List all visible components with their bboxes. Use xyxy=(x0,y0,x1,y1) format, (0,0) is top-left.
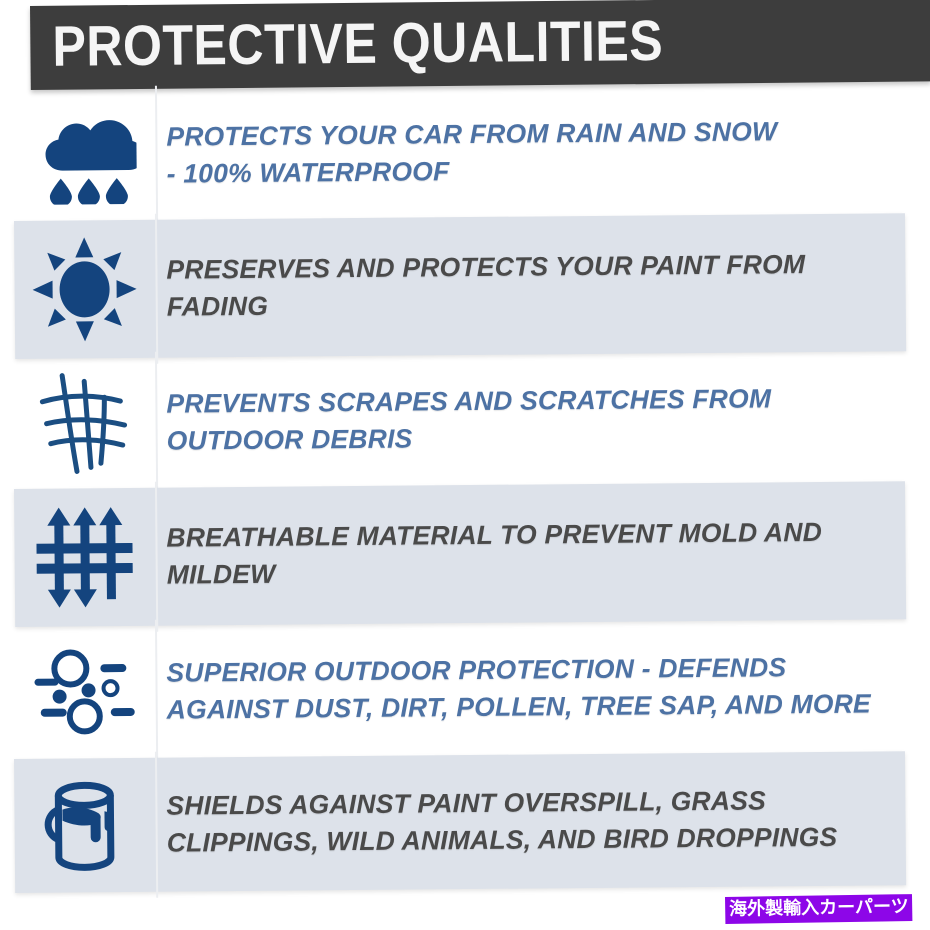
feature-text-sun: PRESERVES AND PROTECTS YOUR PAINT FROM F… xyxy=(166,213,905,357)
scratches-icon xyxy=(14,358,155,489)
feature-line: MILDEW xyxy=(167,551,823,594)
feature-row-sun: PRESERVES AND PROTECTS YOUR PAINT FROM F… xyxy=(0,221,930,359)
rain-cloud-icon xyxy=(14,92,155,221)
dust-particles-icon xyxy=(14,626,155,759)
column-divider xyxy=(155,620,158,764)
feature-text-breathable: BREATHABLE MATERIAL TO PREVENT MOLD AND … xyxy=(166,481,905,625)
breathable-arrows-icon xyxy=(14,488,155,627)
feature-line: OUTDOOR DEBRIS xyxy=(167,417,772,459)
feature-list: PROTECTS YOUR CAR FROM RAIN AND SNOW - 1… xyxy=(0,93,930,893)
feature-row-dust: SUPERIOR OUTDOOR PROTECTION - DEFENDS AG… xyxy=(0,627,930,759)
feature-row-breathable: BREATHABLE MATERIAL TO PREVENT MOLD AND … xyxy=(0,489,930,627)
feature-line: FADING xyxy=(167,283,806,326)
column-divider xyxy=(155,352,158,494)
feature-line: PREVENTS SCRAPES AND SCRATCHES FROM xyxy=(166,380,771,422)
feature-row-scratches: PREVENTS SCRAPES AND SCRATCHES FROM OUTD… xyxy=(0,359,930,489)
feature-text-paint: SHIELDS AGAINST PAINT OVERSPILL, GRASS C… xyxy=(166,751,905,891)
header: PROTECTIVE QUALITIES xyxy=(30,0,930,94)
feature-line: CLIPPINGS, WILD ANIMALS, AND BIRD DROPPI… xyxy=(167,819,838,862)
column-divider xyxy=(155,752,158,898)
page-title: PROTECTIVE QUALITIES xyxy=(52,8,663,80)
feature-line: BREATHABLE MATERIAL TO PREVENT MOLD AND xyxy=(166,514,822,557)
feature-line: SUPERIOR OUTDOOR PROTECTION - DEFENDS xyxy=(166,649,870,692)
feature-line: PRESERVES AND PROTECTS YOUR PAINT FROM xyxy=(166,246,805,289)
feature-line: PROTECTS YOUR CAR FROM RAIN AND SNOW xyxy=(166,113,777,155)
feature-text-rain: PROTECTS YOUR CAR FROM RAIN AND SNOW - 1… xyxy=(166,85,905,219)
watermark-badge: 海外製輸入カーパーツ xyxy=(725,894,913,924)
column-divider xyxy=(155,482,158,632)
feature-line: - 100% WATERPROOF xyxy=(167,150,778,192)
paint-bucket-icon xyxy=(14,758,155,893)
feature-line: SHIELDS AGAINST PAINT OVERSPILL, GRASS xyxy=(166,782,837,825)
column-divider xyxy=(155,214,158,364)
protective-qualities-infographic: PROTECTIVE QUALITIES xyxy=(0,0,930,930)
feature-row-paint: SHIELDS AGAINST PAINT OVERSPILL, GRASS C… xyxy=(0,759,930,893)
feature-row-rain: PROTECTS YOUR CAR FROM RAIN AND SNOW - 1… xyxy=(0,93,930,221)
feature-text-dust: SUPERIOR OUTDOOR PROTECTION - DEFENDS AG… xyxy=(166,619,905,757)
column-divider xyxy=(155,86,158,226)
feature-text-scratches: PREVENTS SCRAPES AND SCRATCHES FROM OUTD… xyxy=(166,351,905,487)
sun-icon xyxy=(14,220,155,359)
feature-line: AGAINST DUST, DIRT, POLLEN, TREE SAP, AN… xyxy=(167,686,871,729)
